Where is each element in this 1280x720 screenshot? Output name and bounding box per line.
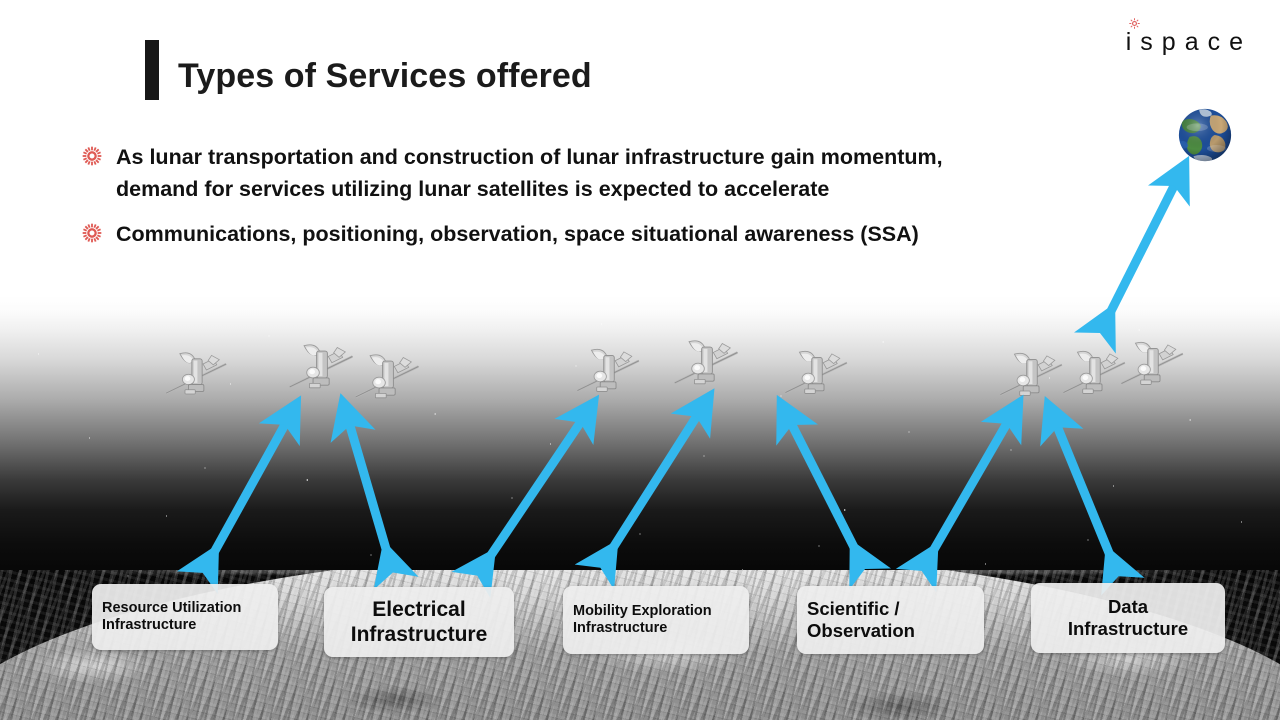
page-title: Types of Services offered xyxy=(178,57,592,96)
service-box-electrical[interactable]: Electrical Infrastructure xyxy=(324,587,514,657)
service-box-data-infrastructure[interactable]: Data Infrastructure xyxy=(1031,583,1225,653)
satellite-icon xyxy=(574,341,644,406)
service-label-line-2: Observation xyxy=(807,620,915,642)
service-label-line-1: Electrical xyxy=(372,597,465,622)
satellite-icon xyxy=(782,343,852,408)
service-label-line-2: Infrastructure xyxy=(1068,618,1188,640)
bullet-text-1: As lunar transportation and construction… xyxy=(116,142,1016,205)
satellite-icon xyxy=(163,344,232,407)
sunburst-bullet-icon xyxy=(82,146,102,166)
service-box-scientific-observation[interactable]: Scientific / Observation xyxy=(797,586,984,654)
service-box-resource-utilization[interactable]: Resource Utilization Infrastructure xyxy=(92,584,278,650)
service-label-line-1: Mobility Exploration xyxy=(573,603,712,620)
service-label-line-2: Infrastructure xyxy=(351,622,488,647)
sunburst-icon xyxy=(1129,18,1140,29)
bullet-item-2: Communications, positioning, observation… xyxy=(82,219,1092,251)
service-label-line-2: Infrastructure xyxy=(573,620,667,637)
bullet-text-2: Communications, positioning, observation… xyxy=(116,219,1066,251)
service-box-mobility-exploration[interactable]: Mobility Exploration Infrastructure xyxy=(563,586,749,654)
logo-text: ispace xyxy=(1126,28,1252,56)
service-label-line-1: Data xyxy=(1108,596,1148,618)
service-label-line-1: Scientific / xyxy=(807,598,900,620)
service-label-line-1: Resource Utilization xyxy=(102,600,241,617)
bullet-item-1: As lunar transportation and construction… xyxy=(82,142,1092,205)
earth-globe xyxy=(1176,106,1234,164)
title-accent-bar xyxy=(145,40,159,100)
sunburst-bullet-icon xyxy=(82,223,102,243)
bullet-list: As lunar transportation and construction… xyxy=(82,142,1092,251)
service-label-line-2: Infrastructure xyxy=(102,617,196,634)
satellite-icon xyxy=(1118,334,1188,399)
satellite-icon xyxy=(286,336,358,402)
satellite-icon xyxy=(671,332,743,398)
presentation-slide: Types of Services offered xyxy=(0,0,1280,720)
satellite-icon xyxy=(997,345,1067,410)
satellite-icon xyxy=(352,346,424,412)
ispace-logo: ispace xyxy=(1126,30,1252,55)
